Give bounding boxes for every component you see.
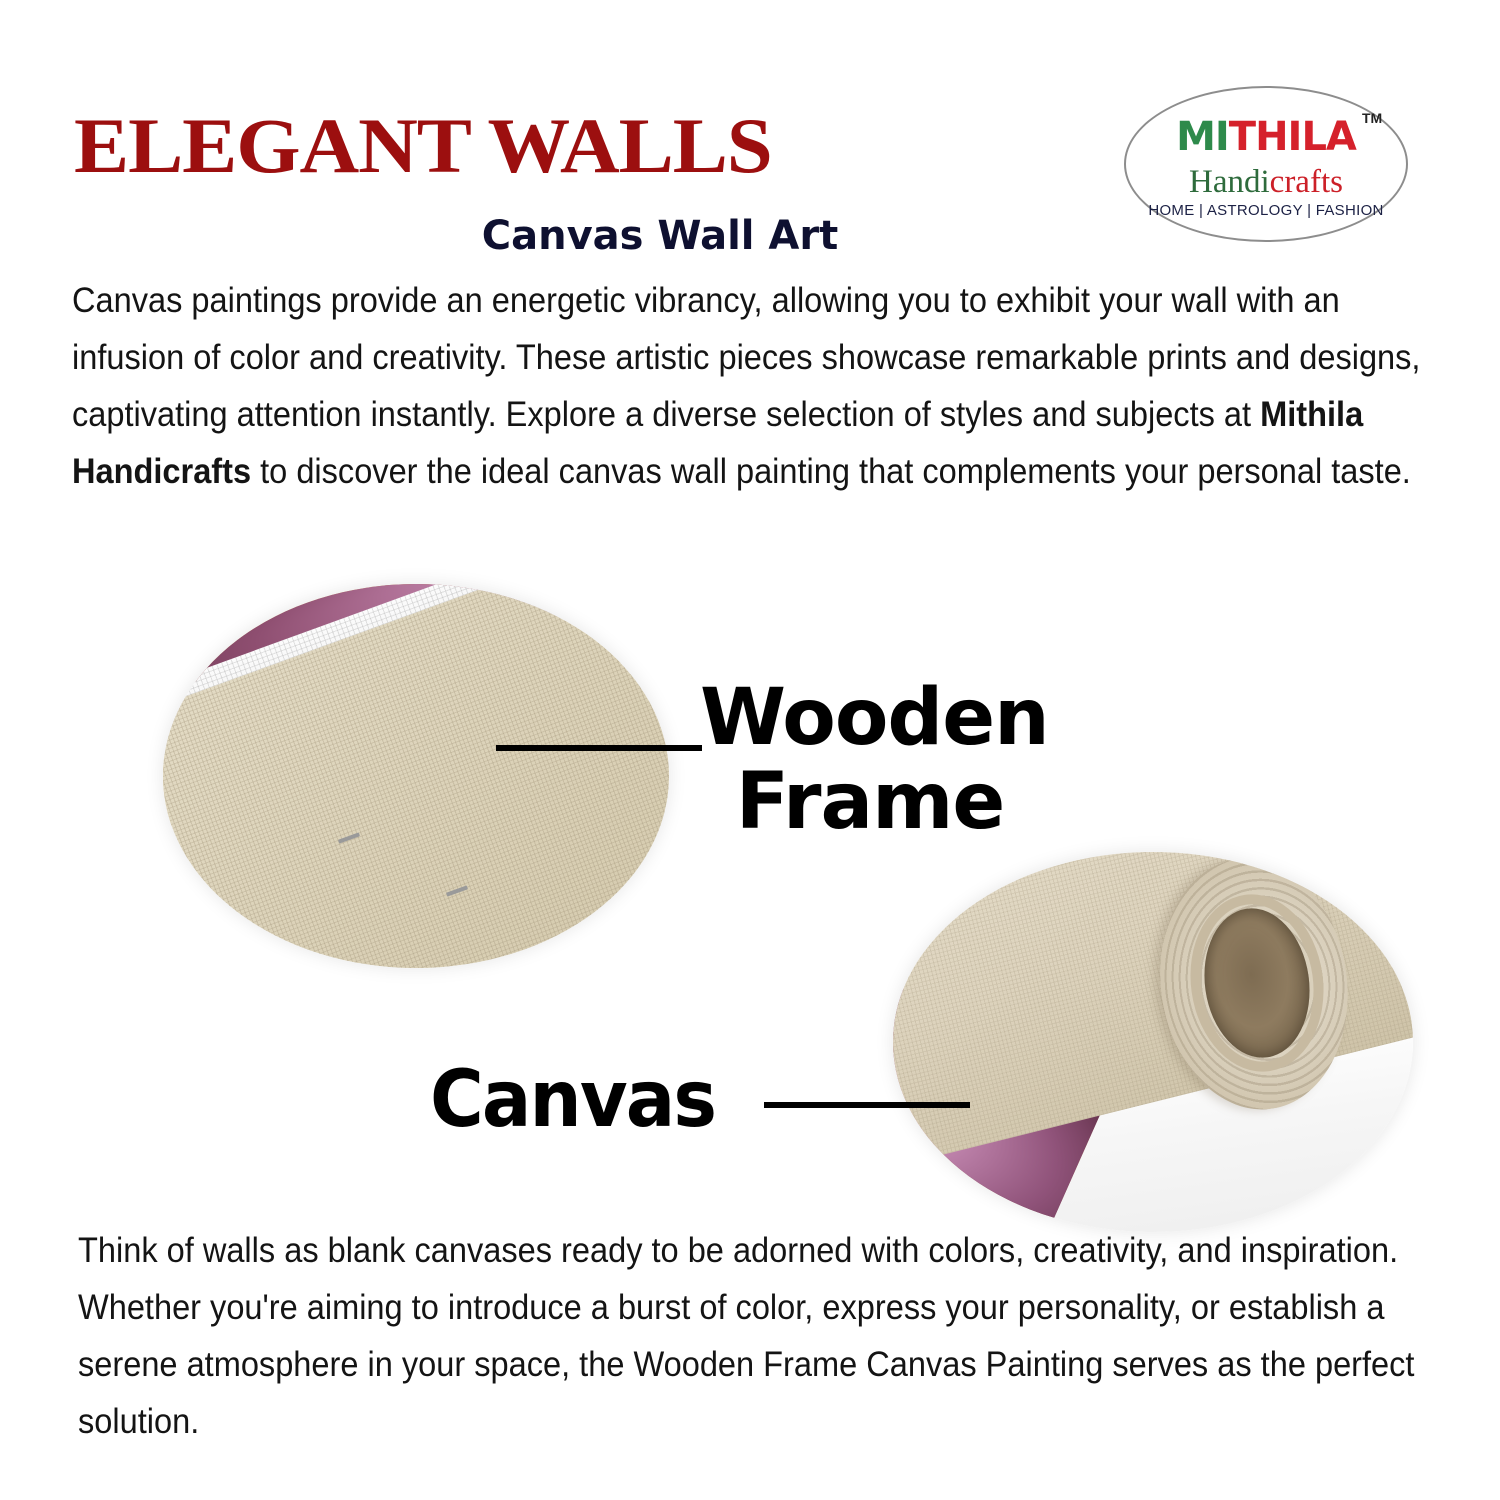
wooden-frame-photo-inner [163, 584, 669, 968]
logo-subwordmark: Handicrafts [1126, 164, 1406, 200]
canvas-leader-line [764, 1102, 970, 1108]
intro-paragraph-part2: to discover the ideal canvas wall painti… [251, 452, 1411, 491]
canvas-roll-photo [893, 852, 1413, 1232]
intro-paragraph: Canvas paintings provide an energetic vi… [72, 272, 1430, 500]
trademark-icon: TM [1362, 110, 1382, 126]
wooden-frame-photo [163, 584, 669, 968]
logo-wordmark-red: THILA [1229, 114, 1356, 160]
canvas-roll-photo-inner [893, 852, 1413, 1232]
wooden-frame-label: Wooden Frame [700, 676, 1040, 844]
page-subtitle: Canvas Wall Art [0, 212, 1500, 260]
poster-page: ELEGANT WALLS MITHILA TM Handicrafts HOM… [0, 0, 1500, 1500]
closing-paragraph: Think of walls as blank canvases ready t… [78, 1222, 1436, 1450]
intro-paragraph-part1: Canvas paintings provide an energetic vi… [72, 281, 1420, 434]
wooden-frame-leader-line [496, 745, 702, 751]
canvas-label: Canvas [430, 1058, 740, 1142]
logo-subwordmark-red: crafts [1270, 164, 1343, 200]
logo-subwordmark-green: Handi [1189, 164, 1270, 200]
logo-wordmark-green: MI [1176, 114, 1229, 160]
page-title: ELEGANT WALLS [74, 104, 772, 188]
